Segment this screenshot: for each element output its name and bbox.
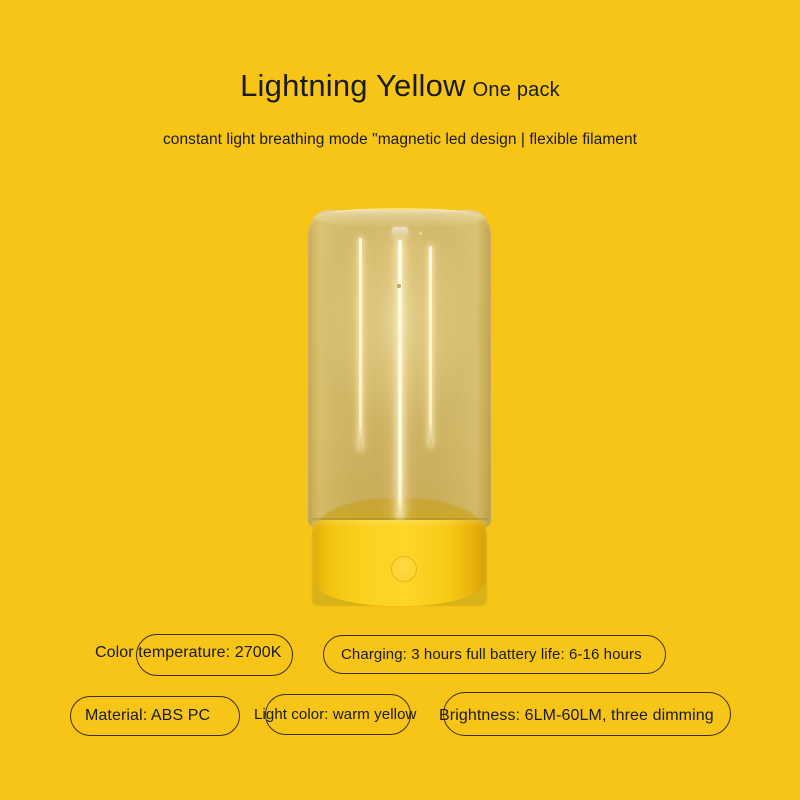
lamp-glass-top-rim xyxy=(314,208,485,228)
power-button-icon xyxy=(391,556,417,582)
spec-label-material: Material: ABS PC xyxy=(85,708,210,724)
pack-label: One pack xyxy=(473,79,560,101)
product-subtitle: constant light breathing mode "magnetic … xyxy=(0,131,800,149)
led-filament-center-icon xyxy=(398,240,402,520)
lamp-base xyxy=(313,520,486,606)
product-title: Lightning Yellow xyxy=(240,68,466,103)
product-card: Lightning YellowOne pack constant light … xyxy=(0,0,800,800)
charge-indicator-icon xyxy=(397,284,401,288)
page-title: Lightning YellowOne pack xyxy=(0,68,800,104)
filament-mount-dot xyxy=(419,232,422,235)
led-filament-right-icon xyxy=(429,246,432,446)
spec-label-color: Light color: warm yellow xyxy=(254,707,416,722)
spec-label-bright: Brightness: 6LM-60LM, three dimming xyxy=(439,708,714,724)
product-image xyxy=(308,210,491,606)
spec-label-temp: Color temperature: 2700K xyxy=(95,645,282,661)
led-filament-left-icon xyxy=(359,238,362,450)
spec-label-charge: Charging: 3 hours full battery life: 6-1… xyxy=(341,647,642,662)
